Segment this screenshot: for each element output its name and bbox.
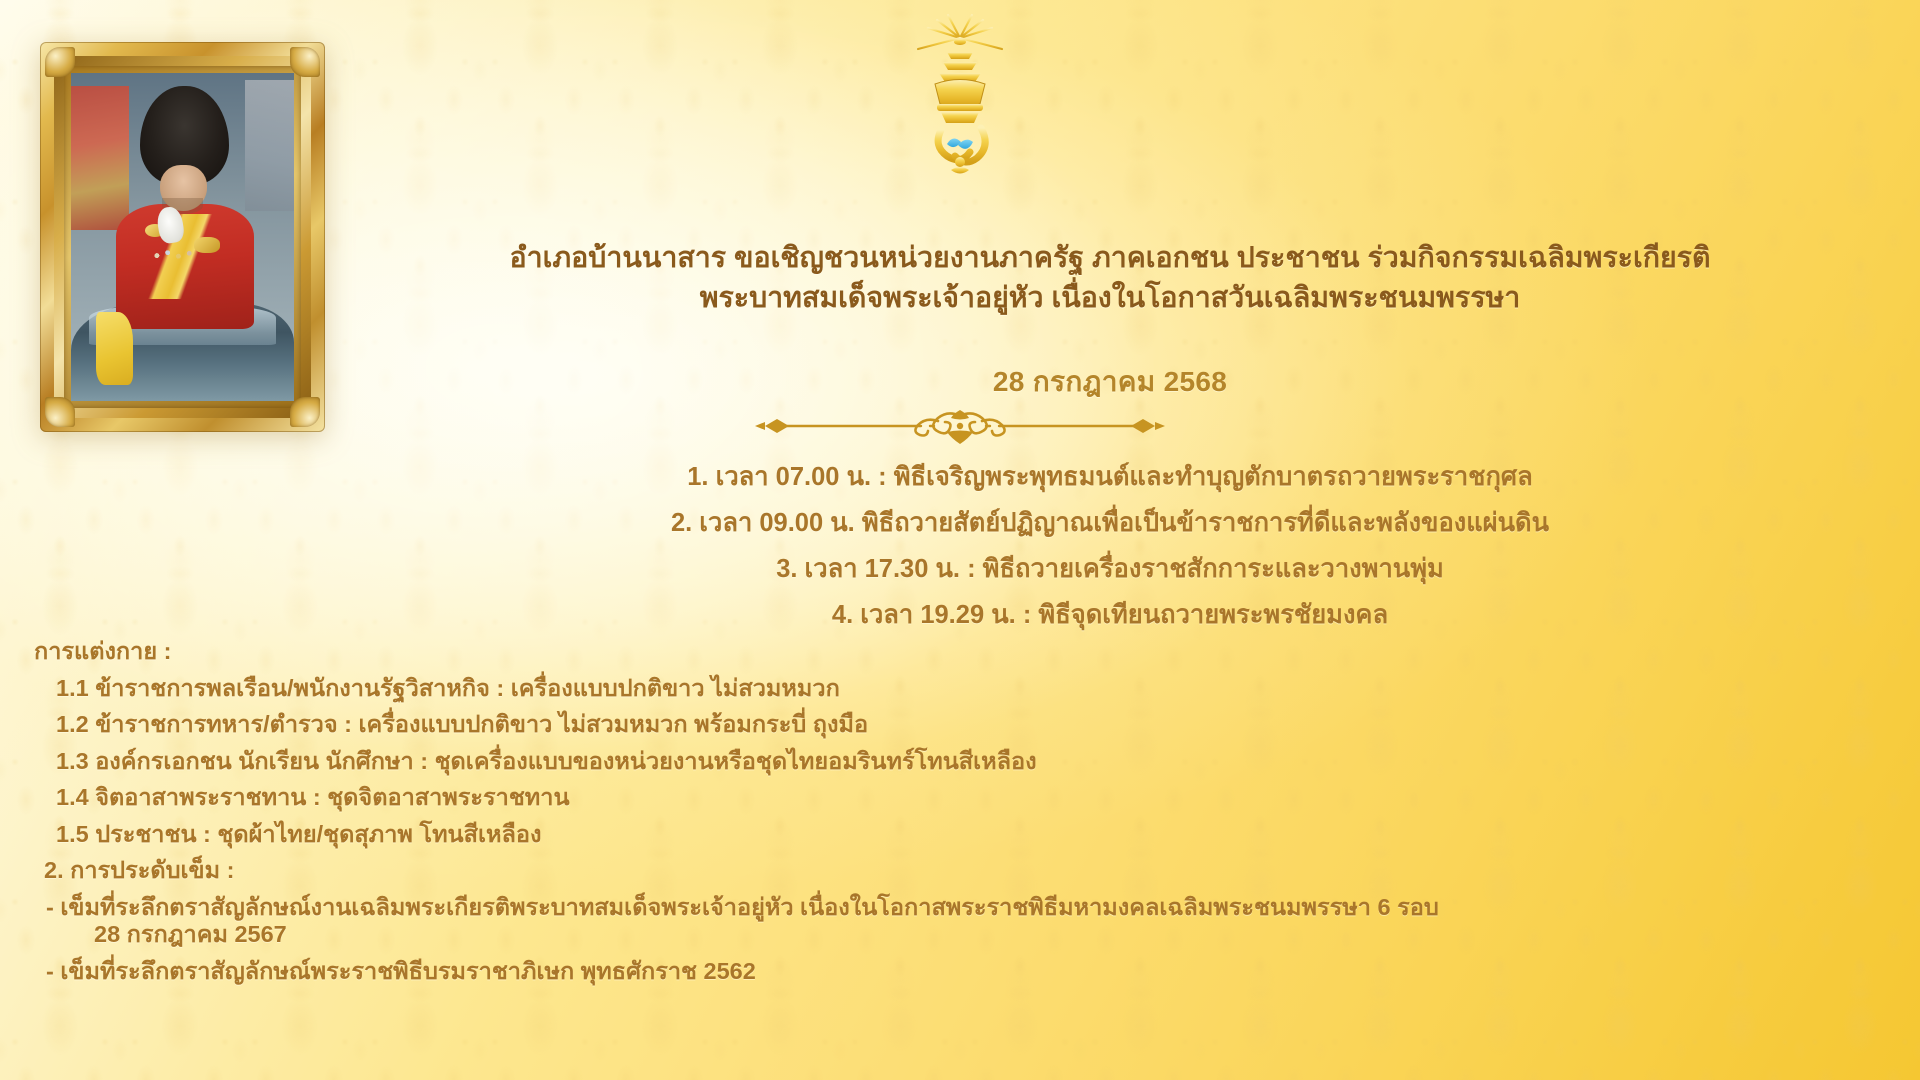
poster-headline: อำเภอบ้านนาสาร ขอเชิญชวนหน่วยงานภาครัฐ ภ… <box>330 238 1890 319</box>
agenda-list: 1. เวลา 07.00 น. : พิธีเจริญพระพุทธมนต์แ… <box>330 455 1890 639</box>
dress-code-heading: การแต่งกาย : <box>34 640 1534 664</box>
agenda-item: 2. เวลา 09.00 น. พิธีถวายสัตย์ปฏิญาณเพื่… <box>330 501 1890 547</box>
agenda-item: 1. เวลา 07.00 น. : พิธีเจริญพระพุทธมนต์แ… <box>330 455 1890 501</box>
photo-flag-left <box>71 86 129 230</box>
dress-code-section: การแต่งกาย : 1.1 ข้าราชการพลเรือน/พนักงา… <box>34 640 1534 987</box>
dress-code-item: 1.2 ข้าราชการทหาร/ตำรวจ : เครื่องแบบปกติ… <box>34 713 1534 737</box>
dress-code-item: 1.5 ประชาชน : ชุดผ้าไทย/ชุดสุภาพ โทนสีเห… <box>34 823 1534 847</box>
photo-flag-right <box>245 80 294 211</box>
pin-section-heading: 2. การประดับเข็ม : <box>34 859 1534 883</box>
photo-medals <box>151 244 200 274</box>
headline-line-2: พระบาทสมเด็จพระเจ้าอยู่หัว เนื่องในโอกาส… <box>330 278 1890 318</box>
royal-crest-icon <box>885 8 1035 198</box>
royal-portrait-photo <box>71 73 294 401</box>
event-date: 28 กรกฎาคม 2568 <box>330 360 1890 404</box>
ornamental-flourish-divider-icon <box>725 404 1195 448</box>
agenda-item: 4. เวลา 19.29 น. : พิธีจุดเทียนถวายพระพร… <box>330 593 1890 639</box>
dress-code-item: 1.3 องค์กรเอกชน นักเรียน นักศึกษา : ชุดเ… <box>34 750 1534 774</box>
headline-line-1: อำเภอบ้านนาสาร ขอเชิญชวนหน่วยงานภาครัฐ ภ… <box>510 242 1711 274</box>
photo-yellow-royal-flag <box>96 312 134 384</box>
agenda-item: 3. เวลา 17.30 น. : พิธีถวายเครื่องราชสัก… <box>330 547 1890 593</box>
pin-item-2: - เข็มที่ระลึกตราสัญลักษณ์พระราชพิธีบรมร… <box>34 960 1534 984</box>
dress-code-item: 1.1 ข้าราชการพลเรือน/พนักงานรัฐวิสาหกิจ … <box>34 677 1534 701</box>
pin-item-line-1: - เข็มที่ระลึกตราสัญลักษณ์งานเฉลิมพระเกี… <box>34 896 1534 920</box>
dress-code-item: 1.4 จิตอาสาพระราชทาน : ชุดจิตอาสาพระราชท… <box>34 786 1534 810</box>
pin-item-line-2: 28 กรกฎาคม 2567 <box>34 923 1534 947</box>
royal-portrait-frame <box>40 42 325 432</box>
